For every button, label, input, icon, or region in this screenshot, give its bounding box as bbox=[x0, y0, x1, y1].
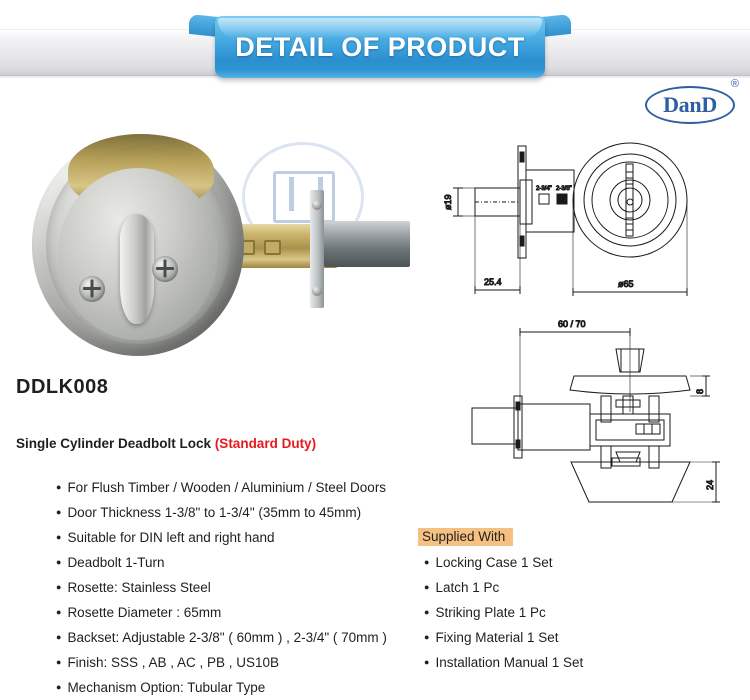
spec-list-item: Rosette Diameter : 65mm bbox=[56, 600, 456, 625]
registered-trademark-icon: ® bbox=[731, 78, 739, 90]
drawing-top: 2-3/4" 2-3/8" ø19 25.4 bbox=[440, 140, 740, 310]
logo-text: DanD bbox=[663, 92, 717, 118]
spec-list-item: Backset: Adjustable 2-3/8" ( 60mm ) , 2-… bbox=[56, 625, 456, 650]
spec-heading: Single Cylinder Deadbolt Lock (Standard … bbox=[16, 436, 316, 451]
svg-text:2-3/8": 2-3/8" bbox=[556, 186, 572, 192]
rosette-screw-right bbox=[152, 256, 178, 282]
svg-text:25.4: 25.4 bbox=[484, 277, 502, 287]
page-header: DETAIL OF PRODUCT bbox=[0, 0, 750, 92]
latch-bolt bbox=[324, 221, 410, 267]
supplied-with-section: Supplied With Locking Case 1 SetLatch 1 … bbox=[418, 528, 738, 675]
supplied-with-list: Locking Case 1 SetLatch 1 PcStriking Pla… bbox=[424, 550, 738, 675]
thumbturn-knob bbox=[120, 214, 154, 324]
spec-list-item: Rosette: Stainless Steel bbox=[56, 575, 456, 600]
spec-list-item: Suitable for DIN left and right hand bbox=[56, 525, 456, 550]
spec-list-item: Finish: SSS , AB , AC , PB , US10B bbox=[56, 650, 456, 675]
page-title: DETAIL OF PRODUCT bbox=[215, 16, 545, 78]
supplied-with-title: Supplied With bbox=[418, 528, 513, 546]
spec-list-item: For Flush Timber / Wooden / Aluminium / … bbox=[56, 475, 456, 500]
product-photo bbox=[24, 128, 424, 363]
svg-text:24: 24 bbox=[705, 480, 715, 490]
supplied-list-item: Striking Plate 1 Pc bbox=[424, 600, 738, 625]
spec-list-item: Mechanism Option: Tubular Type bbox=[56, 675, 456, 700]
drawing-bottom: 60 / 70 8 bbox=[440, 312, 740, 507]
rosette-screw-left bbox=[79, 276, 105, 302]
faceplate-screw-bottom bbox=[312, 286, 322, 296]
spec-list: For Flush Timber / Wooden / Aluminium / … bbox=[16, 475, 456, 700]
spec-list-item: Deadbolt 1-Turn bbox=[56, 550, 456, 575]
supplied-list-item: Installation Manual 1 Set bbox=[424, 650, 738, 675]
spec-heading-duty: (Standard Duty) bbox=[215, 436, 316, 451]
brand-logo: DanD ® bbox=[645, 78, 741, 124]
backset-marker-2 bbox=[264, 240, 281, 255]
svg-text:ø19: ø19 bbox=[443, 194, 453, 210]
spec-list-item: Door Thickness 1-3/8" to 1-3/4" (35mm to… bbox=[56, 500, 456, 525]
svg-text:60 / 70: 60 / 70 bbox=[558, 319, 586, 329]
faceplate-screw-top bbox=[312, 200, 322, 210]
supplied-list-item: Locking Case 1 Set bbox=[424, 550, 738, 575]
model-number: DDLK008 bbox=[16, 376, 108, 399]
spec-heading-main: Single Cylinder Deadbolt Lock bbox=[16, 436, 211, 451]
supplied-list-item: Latch 1 Pc bbox=[424, 575, 738, 600]
svg-text:8: 8 bbox=[695, 389, 705, 394]
svg-text:ø65: ø65 bbox=[618, 279, 634, 289]
logo-oval: DanD bbox=[645, 86, 735, 124]
svg-text:2-3/4": 2-3/4" bbox=[536, 186, 552, 192]
header-ribbon: DETAIL OF PRODUCT bbox=[215, 16, 545, 78]
supplied-list-item: Fixing Material 1 Set bbox=[424, 625, 738, 650]
